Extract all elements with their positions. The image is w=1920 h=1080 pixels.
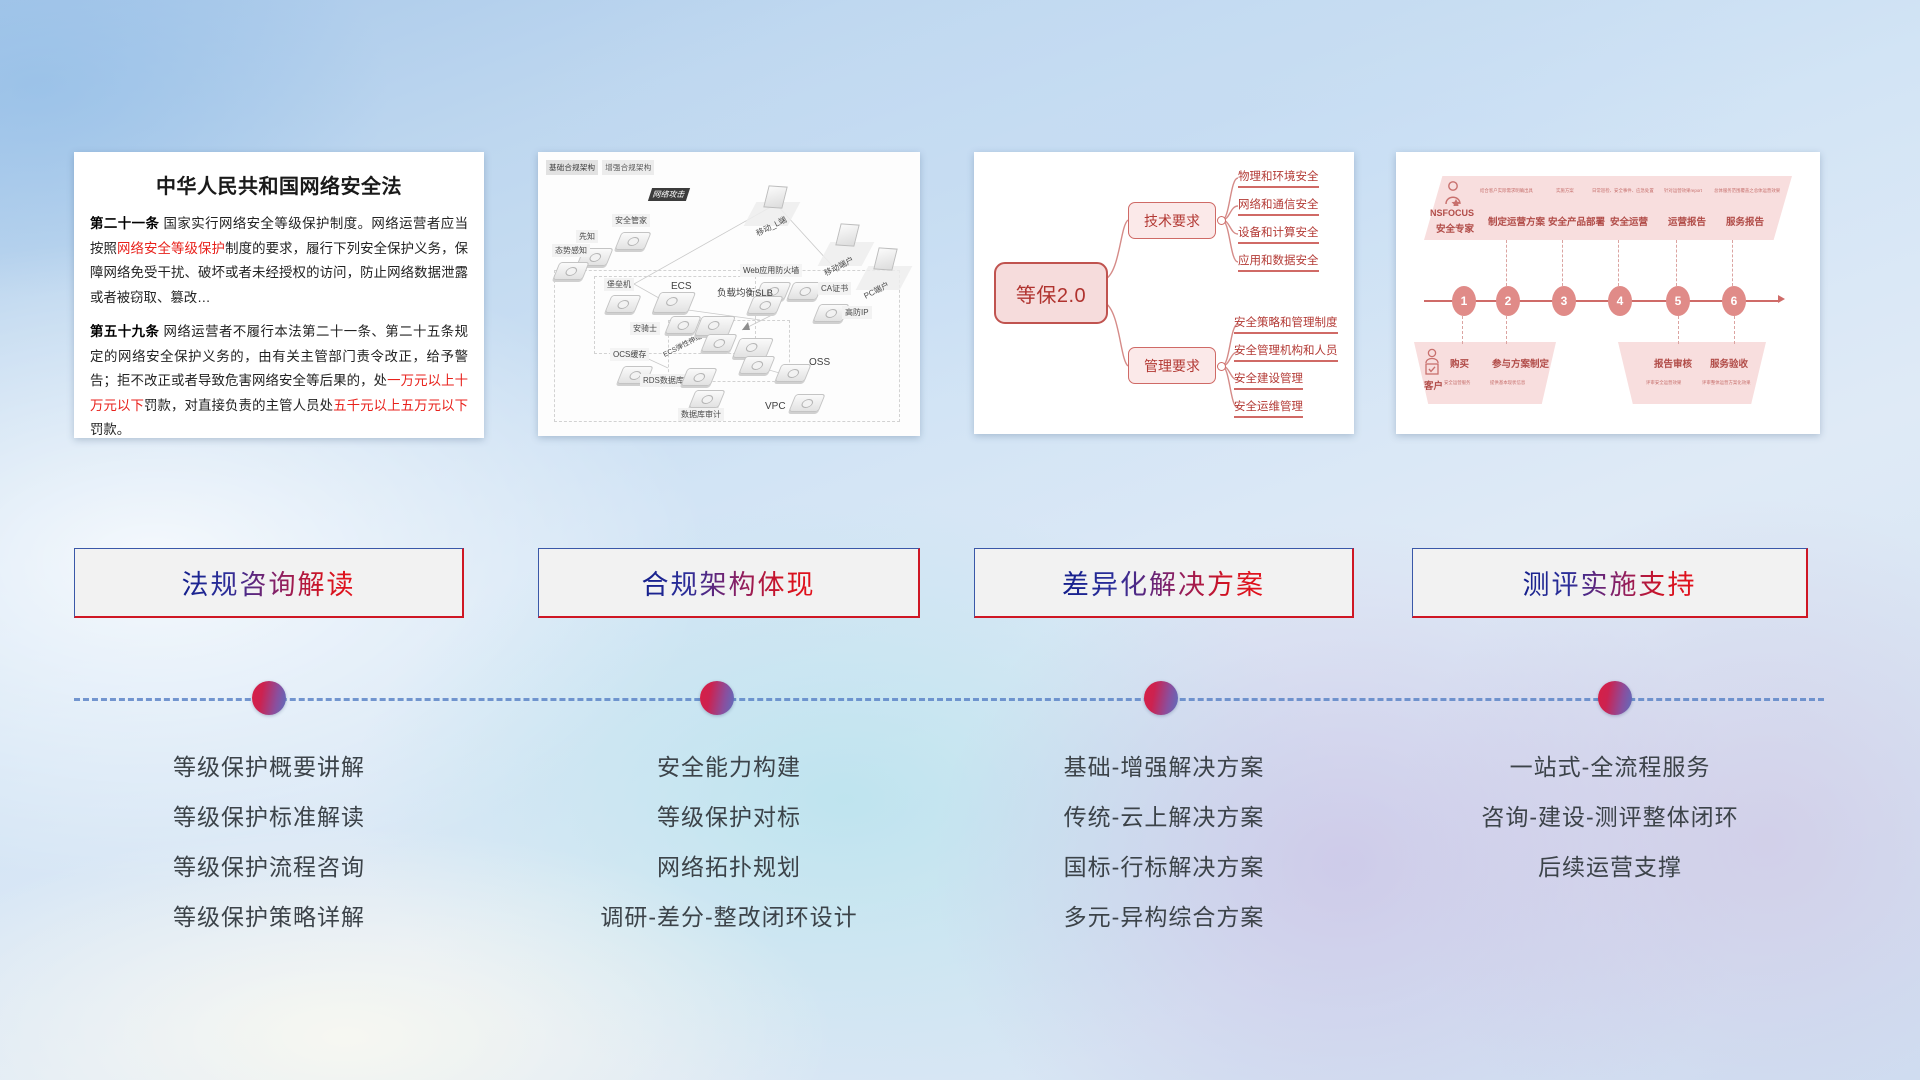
- mindmap-knob-technical[interactable]: [1217, 216, 1226, 225]
- list-item: 咨询-建设-测评整体闭环: [1412, 792, 1808, 842]
- article-21-highlight: 网络安全等级保护: [117, 241, 225, 256]
- bottom-step-1-title: 购买: [1450, 356, 1469, 370]
- law-article-59: 第五十九条 网络运营者不履行本法第二十一条、第二十五条规定的网络安全保护义务的，…: [90, 320, 468, 438]
- timeline-step-6[interactable]: 6: [1722, 286, 1746, 316]
- list-item: 传统-云上解决方案: [974, 792, 1354, 842]
- card-mindmap-dengbao[interactable]: 等保2.0 技术要求 物理和环境安全 网络和通信安全 设备和计算安全 应用和数据…: [974, 152, 1354, 434]
- top-step-1-title: 制定运营方案: [1488, 214, 1545, 228]
- bottom-step-4-sub: 评审整体运营方案化效果: [1702, 380, 1751, 386]
- list-item: 后续运营支撑: [1412, 842, 1808, 892]
- article-59-highlight-2: 五千元以上五万元以下: [333, 398, 468, 413]
- timeline-step-2[interactable]: 2: [1496, 286, 1520, 316]
- mindmap-leaf-ops-mgmt: 安全运维管理: [1234, 398, 1303, 418]
- lead-line-2-down: [1506, 316, 1507, 344]
- law-article-21: 第二十一条 国家实行网络安全等级保护制度。网络运营者应当按照网络安全等级保护制度…: [90, 212, 468, 310]
- mindmap-leaf-policy-system: 安全策略和管理制度: [1234, 314, 1338, 334]
- card-cloud-architecture[interactable]: 基础合规架构 增强合规架构: [538, 152, 920, 436]
- bottom-step-4-title: 服务验收: [1710, 356, 1748, 370]
- heading-label-4: 测评实施支持: [1523, 563, 1697, 602]
- expert-person-icon: [1442, 180, 1464, 206]
- arch-node-mobile-client: 移动端户: [830, 224, 857, 246]
- top-step-3-sub: 日常巡检、安全事件、应急处置: [1592, 188, 1654, 194]
- mindmap-branch-management: 管理要求: [1128, 347, 1216, 384]
- bottom-step-3-sub: 评审安全运营效果: [1646, 380, 1681, 386]
- arch-node-rds-database: RDS数据库: [640, 370, 687, 388]
- expert-role-line-2: 安全专家: [1436, 221, 1474, 235]
- bottom-step-3-title: 报告审核: [1654, 356, 1692, 370]
- mindmap-leaf-device-compute: 设备和计算安全: [1238, 224, 1319, 244]
- timeline-band-provider: [1424, 176, 1792, 240]
- mindmap-root-node: 等保2.0: [994, 262, 1108, 324]
- list-item: 安全能力构建: [538, 742, 920, 792]
- lead-line-5: [1676, 240, 1677, 286]
- lead-line-3: [1562, 240, 1563, 286]
- arch-node-pc-client: PC端户: [868, 248, 895, 270]
- list-item: 一站式-全流程服务: [1412, 742, 1808, 792]
- arch-node-ca-cert: CA证书: [790, 282, 820, 300]
- bullet-column-1: 等级保护概要讲解 等级保护标准解读 等级保护流程咨询 等级保护策略详解: [74, 742, 464, 942]
- bottom-step-1-sub: 安全运营服务: [1444, 380, 1470, 386]
- arch-node-mobile-terminal: 移动_L端: [756, 186, 785, 208]
- article-59-text-2: 罚款，对直接负责的主管人员处: [144, 398, 333, 413]
- arch-node-slb: 负载均衡SLB: [750, 296, 780, 314]
- mindmap-knob-management[interactable]: [1217, 362, 1226, 371]
- timeline-marker-3[interactable]: [1144, 681, 1178, 715]
- timeline-band-customer-right: [1618, 342, 1766, 404]
- bullet-column-4: 一站式-全流程服务 咨询-建设-测评整体闭环 后续运营支撑: [1412, 742, 1808, 892]
- card-cybersecurity-law[interactable]: 中华人民共和国网络安全法 第二十一条 国家实行网络安全等级保护制度。网络运营者应…: [74, 152, 484, 438]
- lead-line-1-down: [1462, 316, 1463, 344]
- list-item: 多元-异构综合方案: [974, 892, 1354, 942]
- top-step-2-sub: 实施方案: [1556, 188, 1574, 194]
- top-step-5-title: 服务报告: [1726, 214, 1764, 228]
- timeline-step-1[interactable]: 1: [1452, 286, 1476, 316]
- top-step-4-title: 运营报告: [1668, 214, 1706, 228]
- top-step-5-sub: 总体服务范围覆盖之总体运营效果: [1714, 188, 1780, 194]
- top-step-3-title: 安全运营: [1610, 214, 1648, 228]
- mindmap-leaf-network-comm: 网络和通信安全: [1238, 196, 1319, 216]
- list-item: 等级保护策略详解: [74, 892, 464, 942]
- arch-node-security-butler: 安全管家: [612, 210, 650, 250]
- lead-line-6: [1732, 240, 1733, 286]
- heading-box-assessment-support[interactable]: 测评实施支持: [1412, 548, 1808, 618]
- mindmap-leaf-construction-mgmt: 安全建设管理: [1234, 370, 1303, 390]
- mindmap-leaf-physical-env: 物理和环境安全: [1238, 168, 1319, 188]
- timeline-step-5[interactable]: 5: [1666, 286, 1690, 316]
- timeline-dashed-line: [74, 698, 1824, 701]
- arch-node-ecs-instance-c: [736, 338, 770, 358]
- customer-role-label: 客户: [1424, 378, 1443, 392]
- list-item: 基础-增强解决方案: [974, 742, 1354, 792]
- bottom-step-2-sub: 提供基本现状信息: [1490, 380, 1525, 386]
- top-step-2-title: 安全产品部署: [1548, 214, 1605, 228]
- arch-node-bastion-host: 堡垒机: [604, 274, 638, 313]
- arch-node-situation-awareness: 态势感知: [552, 240, 590, 280]
- mindmap-leaf-app-data: 应用和数据安全: [1238, 252, 1319, 272]
- arch-node-ecs-instance-b: [704, 334, 734, 352]
- arch-node-anti-ddos: 高防IP: [816, 304, 846, 322]
- timeline-axis-arrow-icon: [1778, 295, 1785, 303]
- expert-role-line-1: NSFOCUS: [1430, 208, 1474, 218]
- bottom-step-2-title: 参与方案制定: [1492, 356, 1549, 370]
- thumbnail-row: 中华人民共和国网络安全法 第二十一条 国家实行网络安全等级保护制度。网络运营者应…: [0, 152, 1920, 442]
- timeline-marker-1[interactable]: [252, 681, 286, 715]
- article-59-text-3: 罚款。: [90, 422, 130, 437]
- timeline-step-4[interactable]: 4: [1608, 286, 1632, 316]
- list-item: 等级保护对标: [538, 792, 920, 842]
- heading-label-2: 合规架构体现: [642, 563, 816, 602]
- timeline-step-3[interactable]: 3: [1552, 286, 1576, 316]
- article-21-label: 第二十一条: [90, 216, 159, 231]
- top-step-4-sub: 针对运营效果report: [1664, 188, 1702, 194]
- lead-line-6-down: [1734, 316, 1735, 344]
- arch-node-vpc: VPC: [764, 394, 822, 412]
- arch-node-ecs-instance-a: [698, 316, 732, 336]
- list-item: 等级保护流程咨询: [74, 842, 464, 892]
- list-item: 网络拓扑规划: [538, 842, 920, 892]
- list-item: 等级保护标准解读: [74, 792, 464, 842]
- heading-label-1: 法规咨询解读: [182, 563, 356, 602]
- list-item: 等级保护概要讲解: [74, 742, 464, 792]
- law-title: 中华人民共和国网络安全法: [90, 170, 468, 199]
- heading-box-regulation-consulting[interactable]: 法规咨询解读: [74, 548, 464, 618]
- timeline-marker-4[interactable]: [1598, 681, 1632, 715]
- mindmap-leaf-org-personnel: 安全管理机构和人员: [1234, 342, 1338, 362]
- top-step-1-sub: 结合客户实际需求明确出具: [1480, 188, 1533, 194]
- lead-line-2: [1506, 240, 1507, 286]
- arch-node-ecs-instance-d: [742, 356, 772, 374]
- arch-node-database-audit: 数据库审计: [678, 390, 722, 408]
- heading-box-compliance-architecture[interactable]: 合规架构体现: [538, 548, 920, 618]
- article-59-label: 第五十九条: [90, 324, 159, 339]
- card-service-timeline[interactable]: NSFOCUS 安全专家 客户 结合客户实际需求明确出具 制定运营方案 实施方案…: [1396, 152, 1820, 434]
- bullet-column-3: 基础-增强解决方案 传统-云上解决方案 国标-行标解决方案 多元-异构综合方案: [974, 742, 1354, 942]
- list-item: 国标-行标解决方案: [974, 842, 1354, 892]
- customer-person-icon: [1422, 348, 1442, 376]
- heading-box-differentiated-solution[interactable]: 差异化解决方案: [974, 548, 1354, 618]
- lead-line-5-down: [1678, 316, 1679, 344]
- bullet-column-2: 安全能力构建 等级保护对标 网络拓扑规划 调研-差分-整改闭环设计: [538, 742, 920, 942]
- list-item: 调研-差分-整改闭环设计: [538, 892, 920, 942]
- lead-line-4: [1618, 240, 1619, 286]
- arch-node-ecs: ECS: [656, 292, 692, 313]
- heading-label-3: 差异化解决方案: [1062, 563, 1265, 602]
- timeline-marker-2[interactable]: [700, 681, 734, 715]
- arch-node-oss: OSS: [778, 364, 808, 382]
- arch-node-anqishi: 安骑士: [630, 318, 660, 336]
- mindmap-branch-technical: 技术要求: [1128, 202, 1216, 239]
